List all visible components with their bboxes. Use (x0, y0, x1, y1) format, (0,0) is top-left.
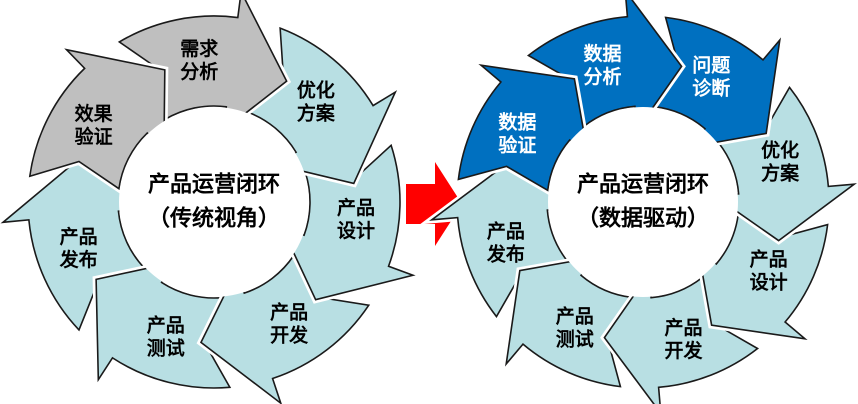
hub-title: 产品运营闭环 (577, 173, 709, 198)
segment-label-7: 产品测试 (556, 305, 594, 351)
segment-label-line: 需求 (180, 37, 219, 60)
hub-disc (548, 107, 738, 297)
segment-label-1: 数据验证 (498, 111, 536, 157)
data-driven-cycle-diagram: 产品发布产品测试产品开发产品设计优化方案问题诊断数据分析数据验证产品运营闭环（数… (429, 0, 858, 404)
segment-label-line: 产品 (750, 247, 788, 270)
hub-title: 产品运营闭环 (148, 173, 280, 198)
segment-label-line: 方案 (761, 162, 800, 185)
diagram-canvas: 产品发布产品测试产品开发产品设计优化方案需求分析效果验证产品运营闭环（传统视角）… (0, 0, 858, 404)
segment-label-line: 开发 (664, 339, 703, 362)
segment-label-line: 分析 (583, 65, 621, 88)
segment-label-line: 产品 (487, 220, 525, 243)
hub-subtitle: （数据驱动） (577, 206, 709, 232)
segment-label-line: 测试 (556, 329, 594, 351)
segment-label-line: 数据 (583, 42, 621, 65)
segment-label-1: 效果验证 (75, 102, 113, 148)
cycle-hub: 产品运营闭环（数据驱动） (548, 107, 738, 297)
segment-label-6: 产品测试 (147, 314, 185, 360)
segment-label-line: 开发 (270, 324, 309, 347)
segment-label-line: 方案 (297, 102, 336, 125)
segment-label-line: 产品 (60, 225, 98, 248)
segment-label-line: 效果 (75, 102, 113, 125)
hub-disc (119, 107, 309, 297)
segment-label-3: 优化方案 (297, 79, 336, 125)
cycle-hub: 产品运营闭环（传统视角） (119, 107, 309, 297)
segment-label-line: 问题 (692, 54, 730, 76)
segment-label-line: 验证 (498, 134, 536, 157)
segment-label-line: 数据 (498, 111, 536, 134)
segment-label-line: 分析 (180, 60, 218, 83)
segment-label-line: 发布 (486, 243, 525, 266)
segment-label-5: 产品设计 (750, 247, 788, 293)
segment-label-line: 设计 (750, 271, 788, 293)
segment-label-line: 产品 (556, 305, 594, 328)
segment-label-3: 问题诊断 (692, 54, 730, 99)
segment-label-2: 数据分析 (583, 42, 621, 88)
segment-label-2: 需求分析 (180, 37, 219, 83)
segment-label-7: 产品发布 (59, 225, 98, 271)
segment-label-4: 产品设计 (337, 196, 375, 242)
segment-label-line: 优化 (761, 139, 799, 162)
segment-label-line: 验证 (75, 125, 113, 148)
segment-label-line: 优化 (297, 79, 335, 102)
segment-label-line: 产品 (147, 314, 185, 337)
segment-label-line: 产品 (270, 301, 308, 324)
segment-label-6: 产品开发 (664, 316, 703, 362)
segment-label-line: 诊断 (692, 76, 730, 99)
segment-label-line: 产品 (664, 316, 702, 339)
segment-label-line: 发布 (59, 248, 98, 271)
segment-label-line: 产品 (337, 196, 375, 219)
product-operation-closed-loop-data-driven-svg: 产品发布产品测试产品开发产品设计优化方案问题诊断数据分析数据验证产品运营闭环（数… (429, 0, 858, 404)
traditional-cycle-diagram: 产品发布产品测试产品开发产品设计优化方案需求分析效果验证产品运营闭环（传统视角） (0, 0, 429, 404)
hub-subtitle: （传统视角） (148, 206, 280, 232)
product-operation-closed-loop-traditional-svg: 产品发布产品测试产品开发产品设计优化方案需求分析效果验证产品运营闭环（传统视角） (0, 0, 429, 404)
segment-label-line: 设计 (337, 220, 375, 242)
segment-label-5: 产品开发 (270, 301, 309, 347)
segment-label-line: 测试 (147, 338, 185, 360)
